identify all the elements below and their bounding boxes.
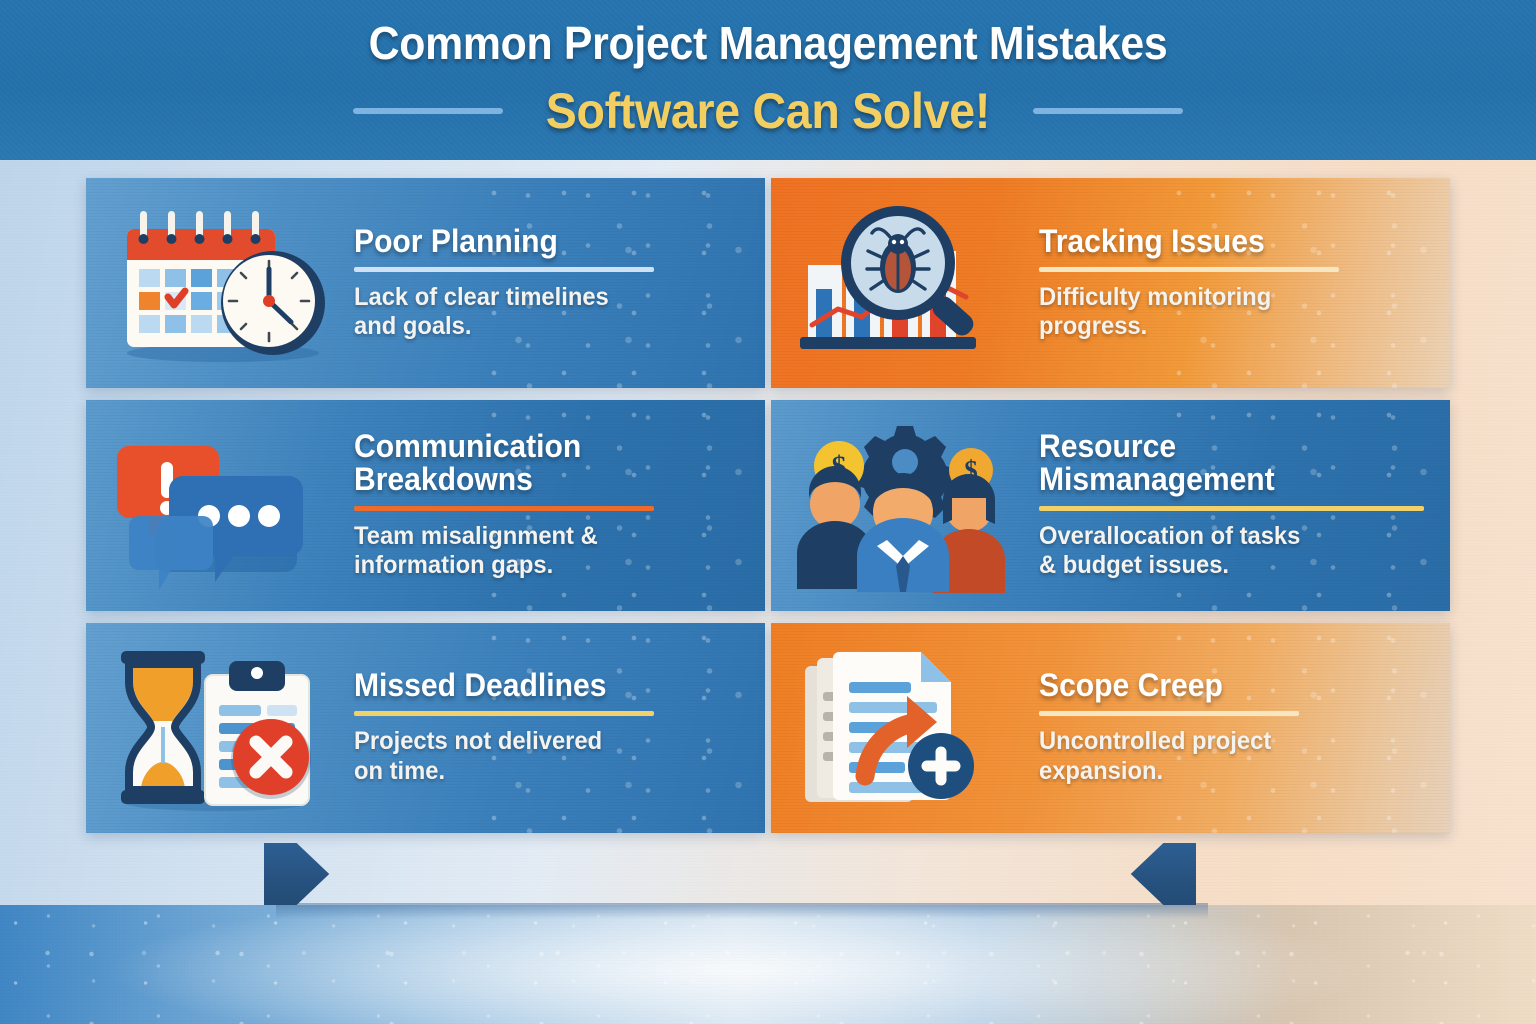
team-gear-money-icon: $ $: [771, 400, 1039, 610]
calendar-clock-icon: [86, 178, 354, 388]
card-title: Missed Deadlines: [354, 669, 716, 702]
card-description: Projects not delivered on time.: [354, 727, 720, 786]
card-tracking-issues[interactable]: Tracking Issues Difficulty monitoring pr…: [771, 178, 1450, 388]
card-title-rule: [354, 506, 654, 511]
card-description: Overallocation of tasks & budget issues.: [1039, 522, 1405, 581]
card-communication-breakdowns[interactable]: Communication Breakdowns Team misalignme…: [86, 400, 765, 610]
card-title-rule: [1039, 506, 1424, 511]
card-text-resource-mismanagement: Resource Mismanagement Overallocation of…: [1039, 430, 1450, 581]
card-description: Difficulty monitoring progress.: [1039, 283, 1405, 342]
header-title-line1: Common Project Management Mistakes: [54, 16, 1482, 70]
magnifier-bug-chart-icon: [771, 178, 1039, 388]
header-subtitle-row: Software Can Solve!: [0, 80, 1536, 142]
card-missed-deadlines[interactable]: Missed Deadlines Projects not delivered …: [86, 623, 765, 833]
card-text-tracking-issues: Tracking Issues Difficulty monitoring pr…: [1039, 225, 1450, 342]
card-description: Uncontrolled project expansion.: [1039, 727, 1405, 786]
card-title-rule: [1039, 267, 1339, 272]
card-scope-creep[interactable]: Scope Creep Uncontrolled project expansi…: [771, 623, 1450, 833]
card-poor-planning[interactable]: Poor Planning Lack of clear timelines an…: [86, 178, 765, 388]
banner-shadow: [276, 903, 1208, 919]
header-rule-right: [1033, 108, 1183, 114]
card-title: Resource Mismanagement: [1039, 430, 1401, 497]
header-banner: Common Project Management Mistakes Softw…: [0, 0, 1536, 160]
card-text-scope-creep: Scope Creep Uncontrolled project expansi…: [1039, 669, 1450, 786]
card-text-communication-breakdowns: Communication Breakdowns Team misalignme…: [354, 430, 765, 581]
header-rule-left: [353, 108, 503, 114]
speech-bubbles-icon: [86, 400, 354, 610]
card-title: Tracking Issues: [1039, 225, 1401, 258]
card-title: Scope Creep: [1039, 669, 1401, 702]
card-resource-mismanagement[interactable]: $ $: [771, 400, 1450, 610]
card-title: Communication Breakdowns: [354, 430, 716, 497]
card-text-missed-deadlines: Missed Deadlines Projects not delivered …: [354, 669, 765, 786]
header-title-line2: Software Can Solve!: [546, 82, 990, 140]
hourglass-clipboard-x-icon: [86, 623, 354, 833]
card-title: Poor Planning: [354, 225, 716, 258]
card-text-poor-planning: Poor Planning Lack of clear timelines an…: [354, 225, 765, 342]
background-bottom-texture: [0, 905, 1536, 1024]
document-arrow-plus-icon: [771, 623, 1039, 833]
card-description: Team misalignment & information gaps.: [354, 522, 720, 581]
card-title-rule: [354, 711, 654, 716]
card-title-rule: [354, 267, 654, 272]
card-description: Lack of clear timelines and goals.: [354, 283, 720, 342]
mistakes-grid: Poor Planning Lack of clear timelines an…: [86, 178, 1450, 833]
card-title-rule: [1039, 711, 1299, 716]
